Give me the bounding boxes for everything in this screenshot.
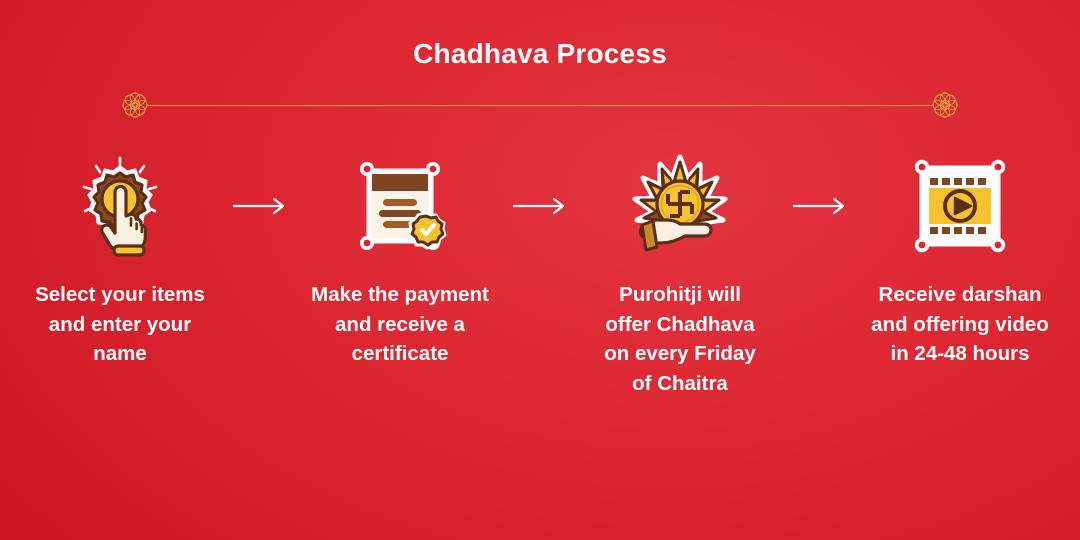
- connector-arrow-3: [786, 150, 854, 262]
- connector-arrow-1: [226, 150, 294, 262]
- hand-offering-coin-lotus-icon: [628, 154, 732, 258]
- arrow-right-icon: [512, 197, 568, 215]
- mandala-rosette-icon: [928, 88, 962, 122]
- process-step-4: Receive darshan and offering video in 24…: [854, 150, 1066, 369]
- mandala-rosette-icon: [118, 88, 152, 122]
- step-1-label: Select your items and enter your name: [14, 280, 226, 369]
- step-3-icon-wrap: [628, 150, 732, 262]
- page-title: Chadhava Process: [0, 38, 1080, 70]
- connector-arrow-2: [506, 150, 574, 262]
- step-3-label: Purohitji will offer Chadhava on every F…: [574, 280, 786, 398]
- video-film-play-icon: [912, 156, 1008, 256]
- divider-line: [148, 105, 932, 106]
- arrow-right-icon: [792, 197, 848, 215]
- step-4-icon-wrap: [912, 150, 1008, 262]
- process-step-1: Select your items and enter your name: [14, 150, 226, 369]
- hand-click-badge-icon: [72, 154, 168, 258]
- step-1-icon-wrap: [72, 150, 168, 262]
- arrow-right-icon: [232, 197, 288, 215]
- chadhava-process-infographic: Chadhava Process: [0, 0, 1080, 540]
- step-2-icon-wrap: [352, 150, 448, 262]
- decorative-divider: [118, 88, 962, 122]
- process-steps: Select your items and enter your name: [0, 150, 1080, 398]
- process-step-3: Purohitji will offer Chadhava on every F…: [574, 150, 786, 398]
- certificate-seal-icon: [352, 154, 448, 258]
- step-4-label: Receive darshan and offering video in 24…: [854, 280, 1066, 369]
- step-2-label: Make the payment and receive a certifica…: [294, 280, 506, 369]
- process-step-2: Make the payment and receive a certifica…: [294, 150, 506, 369]
